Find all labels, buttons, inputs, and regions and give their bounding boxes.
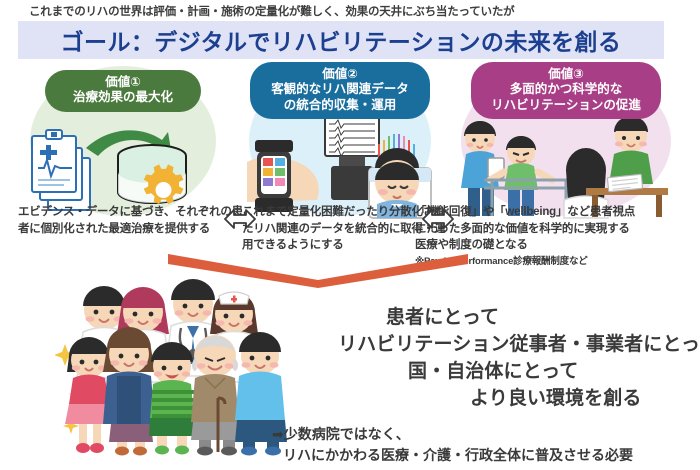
value-panels: 価値① 治療効果の最大化 エビデンス・データに基づき、それぞれの患者に個別化され… [0,62,700,267]
bottom-note: ➡少数病院ではなく、 リハにかかわる医療・介護・行政全体に普及させる必要 [272,424,697,466]
panel-1-pill: 価値① 治療効果の最大化 [45,70,201,112]
bottom-line-1: 患者にとって [330,305,695,332]
panel-2-pill: 価値② 客観的なリハ関連データ の統合的収集・運用 [250,62,430,119]
panel-1-caption: エビデンス・データに基づき、それぞれの患者に個別化された最適治療を提供する [18,204,246,237]
bottom-note-line-2: リハにかかわる医療・介護・行政全体に普及させる必要 [272,445,697,466]
bottom-message-block: 患者にとって リハビリテーション従事者・事業者にとって 国・自治体にとって より… [330,305,695,413]
bottom-line-2: リハビリテーション従事者・事業者にとって [330,332,695,359]
bottom-line-4: より良い環境を創る [330,386,695,413]
double-headed-arrow-icon [223,202,257,236]
lead-caption: これまでのリハの世界は評価・計画・施術の定量化が難しく、効果の天井にぶち当たって… [29,3,669,19]
bottom-note-line-1: ➡少数病院ではなく、 [272,424,697,445]
bottom-line-3: 国・自治体にとって [330,359,695,386]
value-panel-1: 価値① 治療効果の最大化 エビデンス・データに基づき、それぞれの患者に個別化され… [8,62,238,267]
panel-3-pill: 価値③ 多面的かつ科学的な リハビリテーションの促進 [471,62,661,119]
value-panel-3: 価値③ 多面的かつ科学的な リハビリテーションの促進 「機能回復」や「wellb… [440,62,692,267]
infographic-root: これまでのリハの世界は評価・計画・施術の定量化が難しく、効果の天井にぶち当たって… [0,0,700,470]
double-headed-arrow-icon [421,202,455,236]
goal-title: ゴール：デジタルでリハビリテーションの未来を創る [18,21,664,59]
goal-banner: ゴール：デジタルでリハビリテーションの未来を創る [18,21,664,59]
value-panel-2: 価値② 客観的なリハ関連データ の統合的収集・運用 これまで定量化困難だったり分… [240,62,440,267]
